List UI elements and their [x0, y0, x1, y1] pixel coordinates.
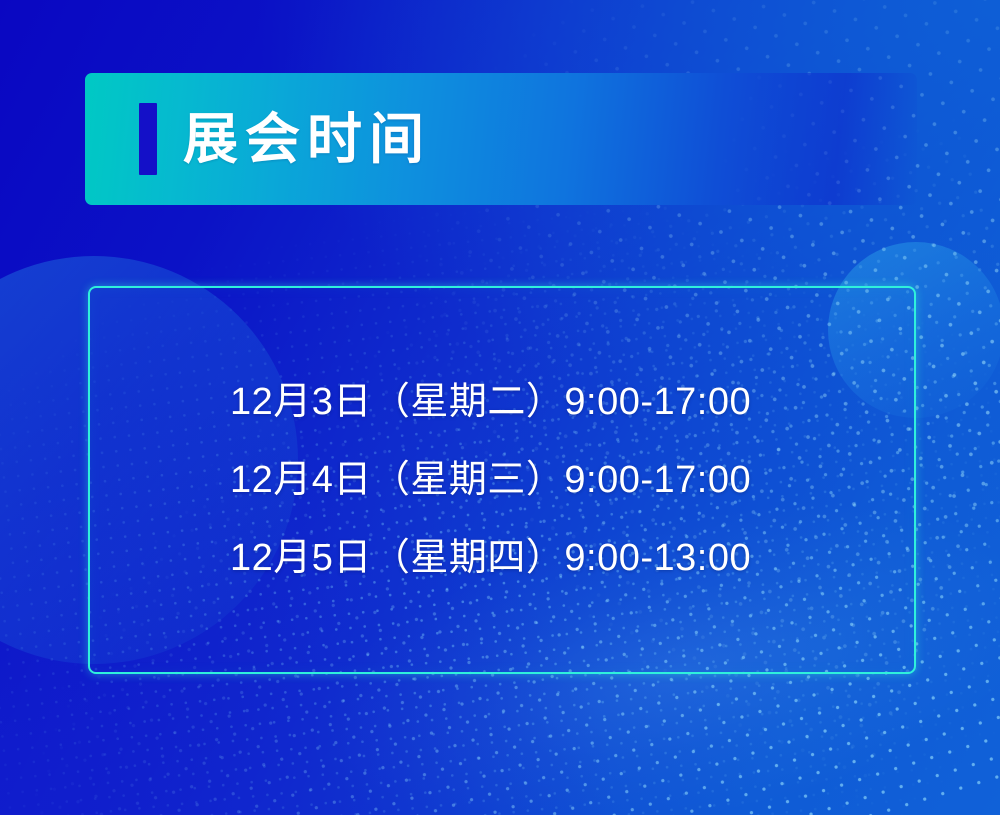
section-header-bar: 展会时间 — [85, 73, 917, 205]
page-title: 展会时间 — [183, 112, 431, 167]
schedule-line: 12月4日（星期三）9:00-17:00 — [230, 441, 914, 519]
schedule-panel: 12月3日（星期二）9:00-17:00 12月4日（星期三）9:00-17:0… — [88, 286, 916, 674]
schedule-line: 12月3日（星期二）9:00-17:00 — [230, 363, 914, 441]
poster-canvas: 展会时间 12月3日（星期二）9:00-17:00 12月4日（星期三）9:00… — [0, 0, 1000, 815]
accent-bar-icon — [139, 103, 157, 175]
schedule-line: 12月5日（星期四）9:00-13:00 — [230, 519, 914, 597]
